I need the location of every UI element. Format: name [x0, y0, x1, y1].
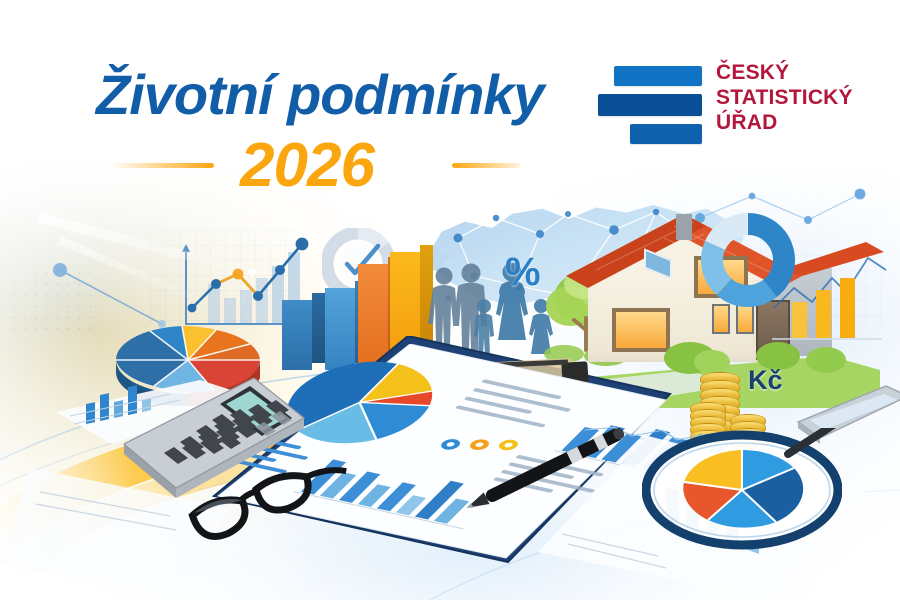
page-title: Životní podmínky [96, 62, 544, 127]
poster-canvas: Životní podmínky 2026 ČESKÝ STATISTICKÝ … [0, 0, 900, 600]
logo-bar-top [614, 66, 702, 86]
logo-bar-middle [598, 94, 702, 116]
magnifier-pie-chart [683, 450, 803, 528]
logo-bars [598, 64, 704, 148]
page-year: 2026 [240, 130, 374, 201]
logo-line-3: ÚŘAD [716, 110, 853, 135]
logo-bar-bottom [630, 124, 702, 144]
logo-line-1: ČESKÝ [716, 60, 853, 85]
title-dash-right [452, 163, 520, 168]
logo-text: ČESKÝ STATISTICKÝ ÚŘAD [716, 60, 853, 135]
percent-symbol: % [505, 250, 541, 295]
magnifier-lens [642, 428, 842, 556]
czso-logo: ČESKÝ STATISTICKÝ ÚŘAD [598, 60, 888, 152]
pen [452, 428, 652, 508]
mini-bar-chart-orange [772, 248, 892, 348]
currency-symbol: Kč [748, 365, 783, 396]
eyeglasses [182, 462, 362, 546]
house-chimney [676, 214, 692, 240]
title-dash-left [110, 163, 214, 168]
logo-line-2: STATISTICKÝ [716, 85, 853, 110]
